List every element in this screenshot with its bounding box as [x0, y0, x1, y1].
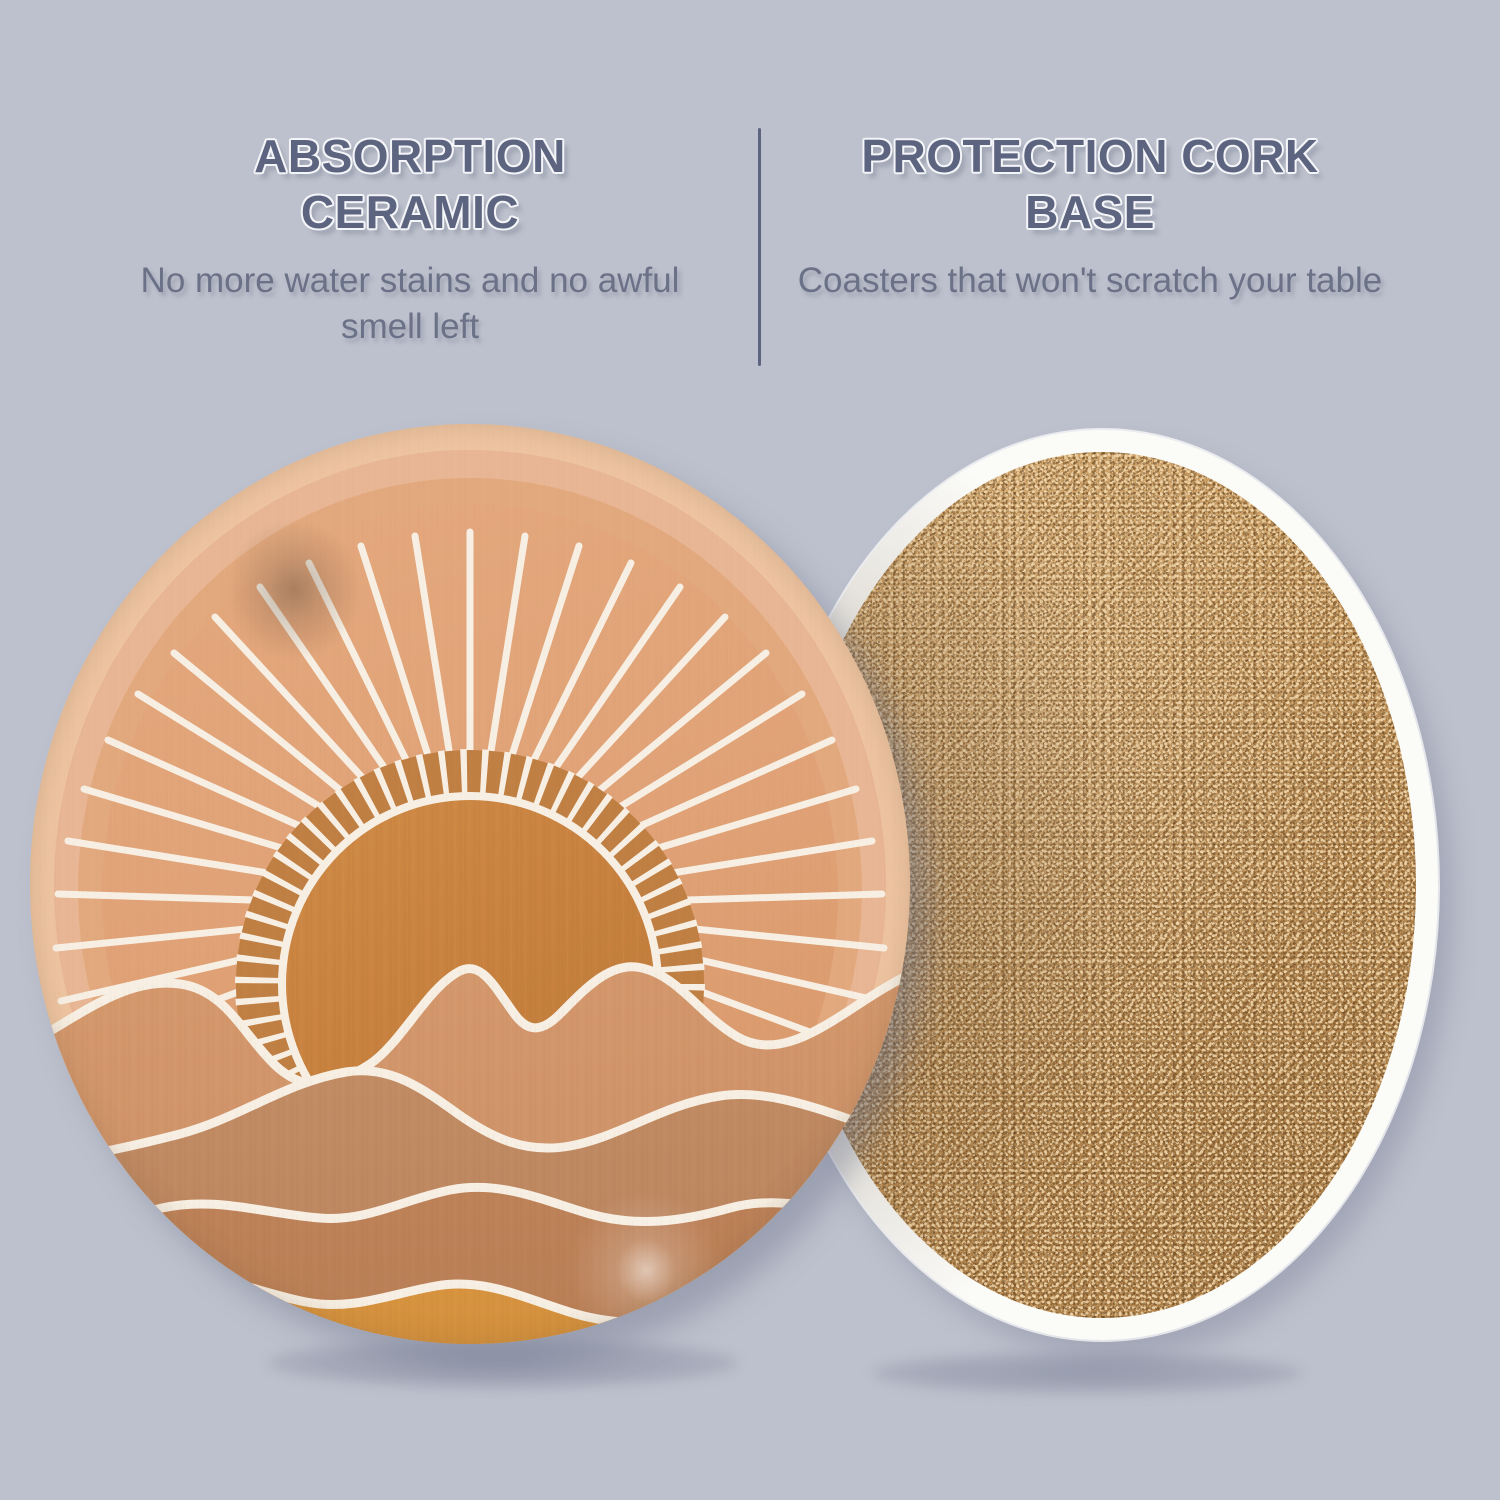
- product-image-stage: [0, 0, 1500, 1500]
- cork-coaster-drop-shadow: [872, 1352, 1302, 1394]
- sunrise-artwork: [30, 424, 910, 1344]
- ceramic-coaster-front: [30, 424, 910, 1344]
- ceramic-coaster-drop-shadow: [268, 1338, 738, 1388]
